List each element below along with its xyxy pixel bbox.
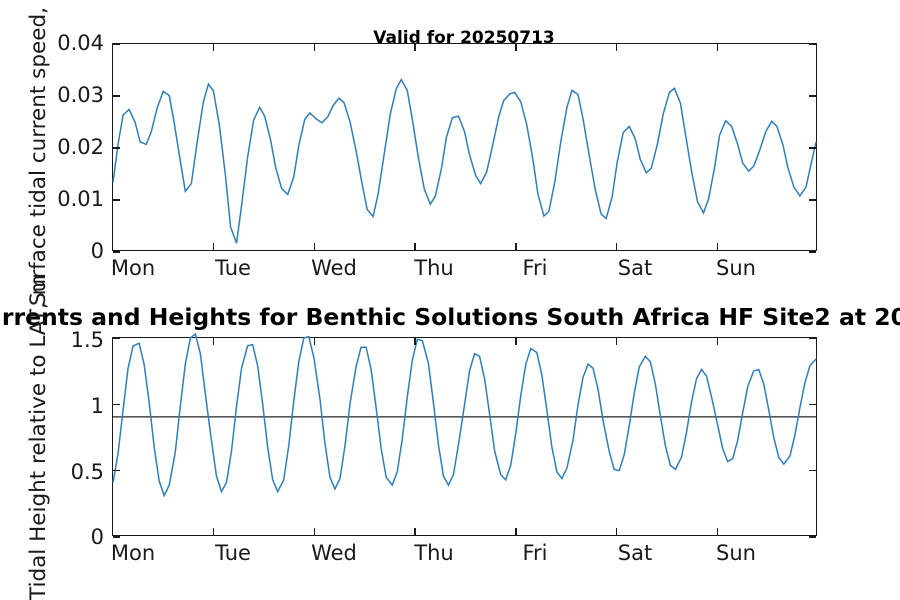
tick-mark-x bbox=[213, 243, 214, 250]
figure-main-title: Tidal Currents and Heights for Benthic S… bbox=[0, 303, 900, 331]
tick-mark-y bbox=[113, 251, 120, 252]
tidal-height-plot bbox=[113, 338, 816, 535]
tick-mark-y bbox=[113, 470, 120, 471]
upper-ytick-0.02: 0.02 bbox=[8, 135, 104, 159]
lower-xtick-sat: Sat bbox=[618, 541, 652, 565]
tick-mark-x bbox=[314, 44, 315, 51]
lower-plot-axes bbox=[112, 337, 817, 536]
tick-mark-x bbox=[414, 528, 415, 535]
upper-plot-axes bbox=[112, 43, 817, 251]
tick-mark-x bbox=[515, 243, 516, 250]
tick-mark-y bbox=[113, 95, 120, 96]
upper-ytick-0.04: 0.04 bbox=[8, 31, 104, 55]
lower-xtick-fri: Fri bbox=[522, 541, 547, 565]
tick-mark-x bbox=[616, 528, 617, 535]
lower-ytick-1.5: 1.5 bbox=[8, 328, 104, 352]
tick-mark-x bbox=[616, 44, 617, 51]
upper-xtick-wed: Wed bbox=[311, 256, 357, 280]
tick-mark-x bbox=[717, 243, 718, 250]
surface-current-speed-plot bbox=[113, 44, 816, 250]
lower-xtick-wed: Wed bbox=[311, 541, 357, 565]
tick-mark-x bbox=[213, 44, 214, 51]
lower-ytick-0: 0 bbox=[8, 525, 104, 549]
upper-ytick-0: 0 bbox=[8, 239, 104, 263]
upper-xtick-thu: Thu bbox=[414, 256, 453, 280]
tick-mark-y bbox=[113, 337, 120, 338]
tick-mark-y bbox=[809, 199, 816, 200]
tick-mark-x bbox=[616, 243, 617, 250]
tick-mark-x bbox=[314, 338, 315, 345]
tick-mark-x bbox=[314, 243, 315, 250]
tick-mark-x bbox=[414, 338, 415, 345]
tick-mark-x bbox=[717, 338, 718, 345]
tick-mark-x bbox=[314, 528, 315, 535]
upper-xtick-mon: Mon bbox=[111, 256, 155, 280]
upper-ytick-0.01: 0.01 bbox=[8, 187, 104, 211]
tick-mark-x bbox=[414, 243, 415, 250]
upper-plot-title: Valid for 20250713 bbox=[373, 28, 554, 48]
tick-mark-y bbox=[809, 251, 816, 252]
tick-mark-y bbox=[113, 43, 120, 44]
tick-mark-x bbox=[515, 528, 516, 535]
tick-mark-y bbox=[113, 199, 120, 200]
lower-xtick-thu: Thu bbox=[414, 541, 453, 565]
tick-mark-x bbox=[213, 528, 214, 535]
current-speed-line bbox=[113, 80, 816, 244]
tick-mark-x bbox=[717, 528, 718, 535]
tidal-chart-figure: Valid for 20250713 Surface tidal current… bbox=[0, 0, 900, 600]
tick-mark-y bbox=[809, 147, 816, 148]
upper-xtick-fri: Fri bbox=[522, 256, 547, 280]
upper-xtick-sat: Sat bbox=[618, 256, 652, 280]
tidal-height-line bbox=[113, 334, 816, 496]
tick-mark-y bbox=[809, 404, 816, 405]
lower-y-axis-title: Tidal Height relative to LAT, m bbox=[26, 274, 51, 600]
lower-ytick-0.5: 0.5 bbox=[8, 460, 104, 484]
tick-mark-y bbox=[113, 147, 120, 148]
lower-xtick-sun: Sun bbox=[716, 541, 756, 565]
tick-mark-y bbox=[809, 536, 816, 537]
tick-mark-y bbox=[113, 536, 120, 537]
upper-ytick-0.03: 0.03 bbox=[8, 83, 104, 107]
tick-mark-x bbox=[717, 44, 718, 51]
lower-xtick-mon: Mon bbox=[111, 541, 155, 565]
lower-ytick-1: 1 bbox=[8, 394, 104, 418]
upper-xtick-sun: Sun bbox=[716, 256, 756, 280]
tick-mark-x bbox=[616, 338, 617, 345]
upper-xtick-tue: Tue bbox=[215, 256, 251, 280]
tick-mark-y bbox=[113, 404, 120, 405]
tick-mark-y bbox=[809, 337, 816, 338]
tick-mark-y bbox=[809, 470, 816, 471]
tick-mark-y bbox=[809, 95, 816, 96]
lower-xtick-tue: Tue bbox=[215, 541, 251, 565]
tick-mark-x bbox=[213, 338, 214, 345]
tick-mark-x bbox=[515, 338, 516, 345]
tick-mark-y bbox=[809, 43, 816, 44]
